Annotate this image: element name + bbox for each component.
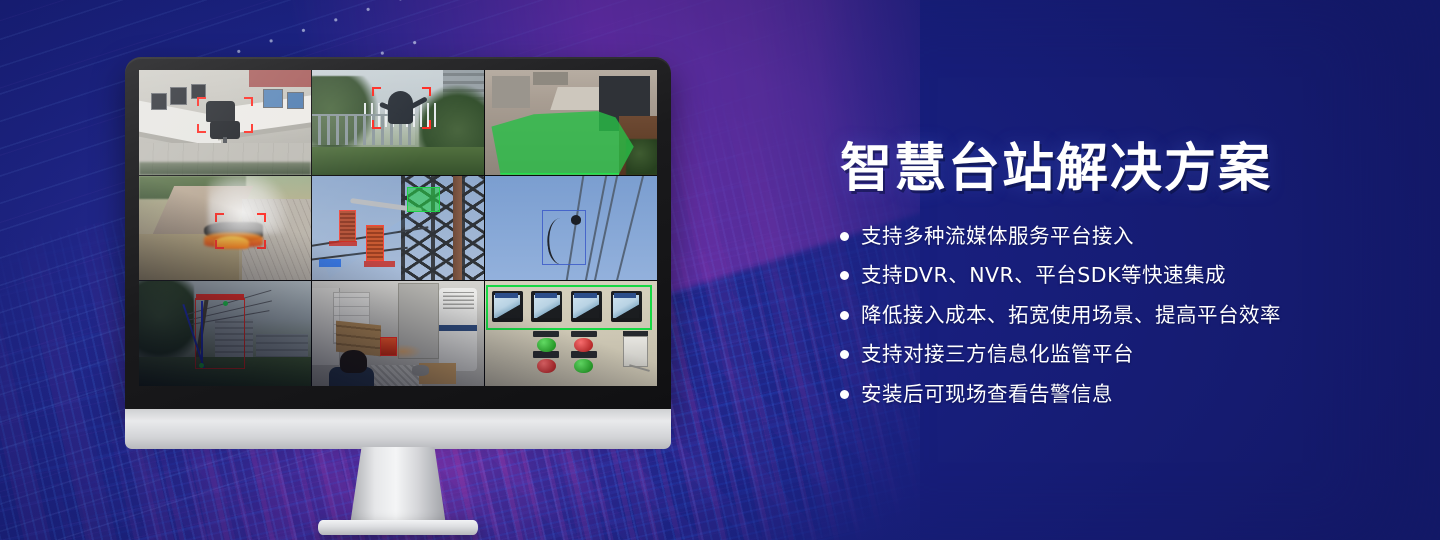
info-label-tag [319, 259, 341, 266]
concrete-wall [492, 76, 530, 107]
monitor-stand-base [318, 520, 478, 535]
ground-vegetation [312, 147, 484, 174]
feature-text: 支持多种流媒体服务平台接入 [861, 226, 1134, 247]
video-feed-tile-1[interactable] [139, 70, 311, 175]
monitor-chin [125, 409, 671, 449]
list-item: 降低接入成本、拓宽使用场景、提高平台效率 [840, 305, 1400, 326]
detection-bracket-icon [197, 97, 252, 133]
button-label [571, 331, 597, 337]
feature-list: 支持多种流媒体服务平台接入 支持DVR、NVR、平台SDK等快速集成 降低接入成… [840, 226, 1400, 405]
video-feed-tile-8[interactable] [312, 281, 484, 386]
list-item: 支持DVR、NVR、平台SDK等快速集成 [840, 265, 1400, 286]
bullet-dot-icon [840, 232, 849, 241]
operator-head [340, 350, 368, 373]
panel-switch [623, 336, 649, 367]
page-title: 智慧台站解决方案 [840, 140, 1400, 200]
indicator-lamp-red [574, 338, 593, 353]
wall-panel [249, 70, 311, 87]
blue-detection-box [543, 211, 584, 263]
list-item: 支持对接三方信息化监管平台 [840, 344, 1400, 365]
ac-trim [439, 325, 477, 330]
green-detection-box [488, 287, 650, 329]
power-line [612, 176, 649, 281]
operator-hand [412, 365, 429, 375]
detection-bracket-icon [215, 213, 267, 249]
bullet-dot-icon [840, 311, 849, 320]
video-feed-tile-3[interactable] [485, 70, 657, 175]
workstation-monitor [287, 92, 304, 109]
red-detection-box [196, 299, 244, 368]
detection-label-tag [364, 261, 395, 266]
bullet-dot-icon [840, 390, 849, 399]
air-vent [443, 292, 474, 309]
surveillance-grid [139, 70, 657, 386]
green-detection-box [408, 188, 439, 211]
button-label [533, 331, 559, 337]
insulator-detection-box [340, 211, 355, 240]
red-detection-box [381, 338, 396, 355]
button-label [571, 351, 597, 357]
concrete-wall [533, 72, 567, 85]
video-feed-tile-9[interactable] [485, 281, 657, 386]
feature-text: 安装后可现场查看告警信息 [861, 384, 1113, 405]
indicator-lamp-red [537, 359, 556, 374]
hero-banner: 智慧台站解决方案 支持多种流媒体服务平台接入 支持DVR、NVR、平台SDK等快… [0, 0, 1440, 540]
video-feed-tile-7[interactable] [139, 281, 311, 386]
tree-cluster [139, 281, 194, 365]
detection-bracket-icon [372, 87, 430, 129]
bullet-dot-icon [840, 271, 849, 280]
monitor-mockup [125, 57, 671, 492]
indicator-lamp-green [537, 338, 556, 353]
workstation-monitor [263, 89, 284, 108]
video-feed-tile-4[interactable] [139, 176, 311, 281]
antenna-mast [453, 176, 462, 281]
monitor-stand-neck [350, 447, 446, 525]
hero-copy: 智慧台站解决方案 支持多种流媒体服务平台接入 支持DVR、NVR、平台SDK等快… [840, 140, 1400, 423]
indicator-lamp-green [574, 359, 593, 374]
workstation-monitor [170, 87, 187, 105]
foreground-blur [139, 162, 311, 175]
video-feed-tile-2[interactable] [312, 70, 484, 175]
feature-text: 支持对接三方信息化监管平台 [861, 344, 1134, 365]
video-feed-tile-6[interactable] [485, 176, 657, 281]
button-label [533, 351, 559, 357]
list-item: 安装后可现场查看告警信息 [840, 384, 1400, 405]
video-feed-tile-5[interactable] [312, 176, 484, 281]
workstation-monitor [151, 93, 166, 110]
feature-text: 支持DVR、NVR、平台SDK等快速集成 [861, 265, 1226, 286]
detection-label-tag [329, 241, 357, 246]
list-item: 支持多种流媒体服务平台接入 [840, 226, 1400, 247]
insulator-detection-box [367, 226, 382, 261]
feature-text: 降低接入成本、拓宽使用场景、提高平台效率 [861, 305, 1281, 326]
bullet-dot-icon [840, 350, 849, 359]
